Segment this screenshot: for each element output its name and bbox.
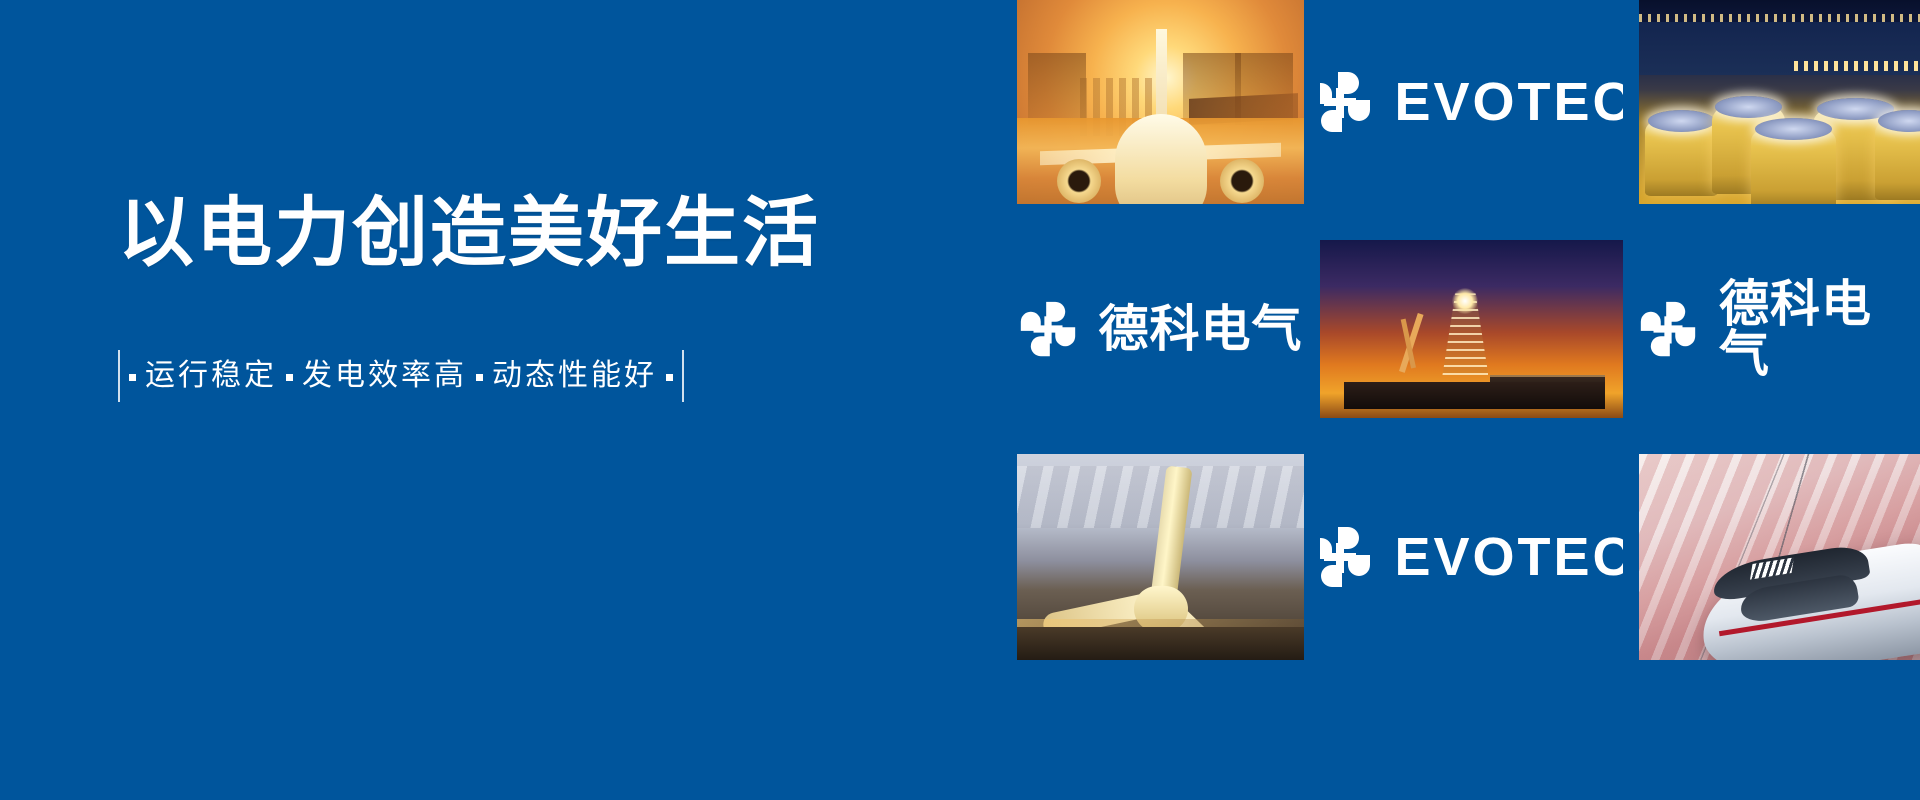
photo-oil-storage-tanks [1623, 0, 1920, 222]
photo-high-speed-train [1623, 436, 1920, 660]
page-title: 以电力创造美好生活 [118, 196, 878, 272]
photo-offshore-oil-rig [1320, 222, 1623, 436]
subtitle-item-2: 发电效率高 [302, 361, 467, 391]
subtitle-row: 运行稳定 发电效率高 动态性能好 [118, 350, 878, 402]
bullet-square-icon [286, 374, 293, 381]
wordmark-evotec: EVOTEC [1394, 530, 1623, 584]
brand-image-mosaic: EVOTEC [1017, 0, 1920, 660]
subtitle-rule-right [682, 350, 684, 402]
subtitle-items: 运行稳定 发电效率高 动态性能好 [120, 361, 682, 391]
photo-wind-turbine [1017, 436, 1320, 660]
hero-copy-block: 以电力创造美好生活 运行稳定 发电效率高 动态性能好 [118, 196, 878, 402]
logo-panel-deke-right: 德科电气 [1623, 222, 1920, 436]
logo-panel-evotec-top: EVOTEC [1320, 0, 1623, 222]
evotec-pinwheel-logo-icon [1019, 300, 1077, 358]
bullet-square-icon [476, 374, 483, 381]
evotec-pinwheel-logo-icon [1639, 300, 1697, 358]
photo-airport-cargo-plane [1017, 0, 1320, 222]
subtitle-item-3: 动态性能好 [492, 361, 657, 391]
wordmark-deke: 德科电气 [1099, 304, 1303, 354]
bullet-square-icon [129, 374, 136, 381]
evotec-pinwheel-logo-icon [1320, 70, 1372, 134]
logo-panel-deke-left: 德科电气 [1017, 222, 1320, 436]
wordmark-evotec: EVOTEC [1394, 75, 1623, 129]
evotec-pinwheel-logo-icon [1320, 525, 1372, 589]
logo-panel-evotec-bottom: EVOTEC [1320, 436, 1623, 660]
subtitle-item-1: 运行稳定 [145, 361, 277, 391]
wordmark-deke: 德科电气 [1719, 279, 1920, 379]
bullet-square-icon [666, 374, 673, 381]
